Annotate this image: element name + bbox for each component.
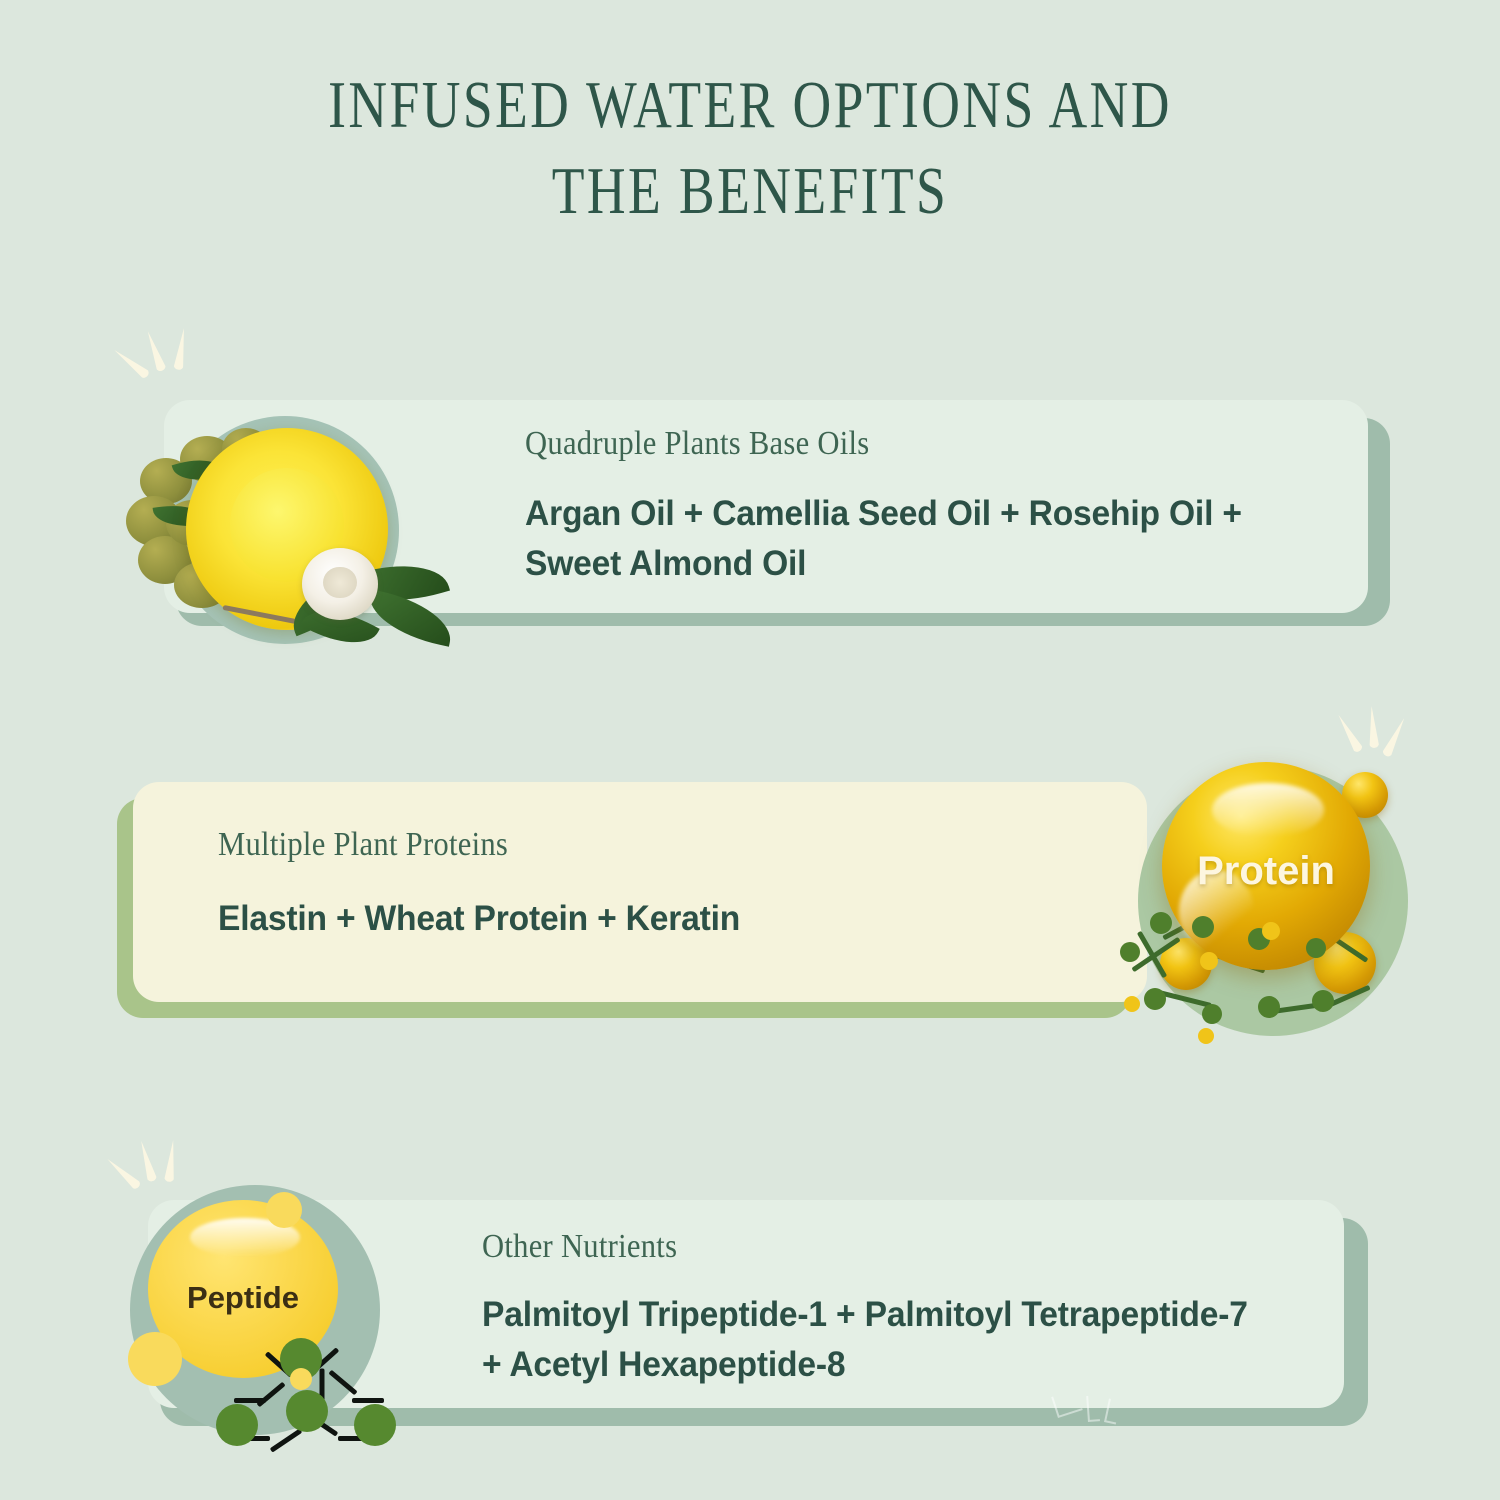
molecule-node [1120,942,1140,962]
molecule-node [354,1404,396,1446]
molecule-node [1262,922,1280,940]
molecule-node [286,1390,328,1432]
molecule-bond [234,1398,266,1403]
molecule-node [1144,988,1166,1010]
card-proteins-text: Multiple Plant Proteins Elastin + Wheat … [218,826,762,944]
protein-graphic: Protein [1098,700,1498,1050]
molecule-node [1200,952,1218,970]
camellia-flower [302,548,378,620]
sparkle-icon-outline [1052,1396,1122,1436]
card-proteins-main-text: Elastin + Wheat Protein + Keratin [218,894,740,944]
infographic-page: INFUSED WATER OPTIONS AND THE BENEFITS Q… [0,0,1500,1500]
peptide-dot [128,1332,182,1386]
olive-oil-graphic [118,366,518,656]
page-title: INFUSED WATER OPTIONS AND THE BENEFITS [0,62,1500,234]
peptide-small-dot [290,1368,312,1390]
card-nutrients-main-text: Palmitoyl Tripeptide-1 + Palmitoyl Tetra… [482,1290,1250,1390]
sparkle-icon-peptide [118,1134,198,1190]
molecule-node [1124,996,1140,1012]
molecule-bond [352,1398,384,1403]
card-oils-subtitle: Quadruple Plants Base Oils [525,425,1290,463]
page-title-line-1: INFUSED WATER OPTIONS AND [150,62,1350,148]
peptide-graphic: Peptide [112,1140,492,1490]
molecule-node [1258,996,1280,1018]
molecule-node [1306,938,1326,958]
card-nutrients-subtitle: Other Nutrients [482,1228,1202,1266]
card-proteins-subtitle: Multiple Plant Proteins [218,826,707,864]
page-title-line-2: THE BENEFITS [150,148,1350,234]
card-oils-text: Quadruple Plants Base Oils Argan Oil + C… [525,425,1375,589]
sparkle-icon-protein [1340,700,1420,760]
card-nutrients-text: Other Nutrients Palmitoyl Tripeptide-1 +… [482,1228,1282,1390]
peptide-dot [266,1192,302,1228]
sparkle-icon-top-left [124,322,204,382]
molecule-node [1198,1028,1214,1044]
molecule-node [216,1404,258,1446]
molecule-node [1192,916,1214,938]
protein-label: Protein [1162,849,1370,894]
peptide-label: Peptide [148,1280,338,1316]
molecule-node [1150,912,1172,934]
molecule-node [1202,1004,1222,1024]
card-oils-main-text: Argan Oil + Camellia Seed Oil + Rosehip … [525,489,1341,589]
molecule-node [1312,990,1334,1012]
